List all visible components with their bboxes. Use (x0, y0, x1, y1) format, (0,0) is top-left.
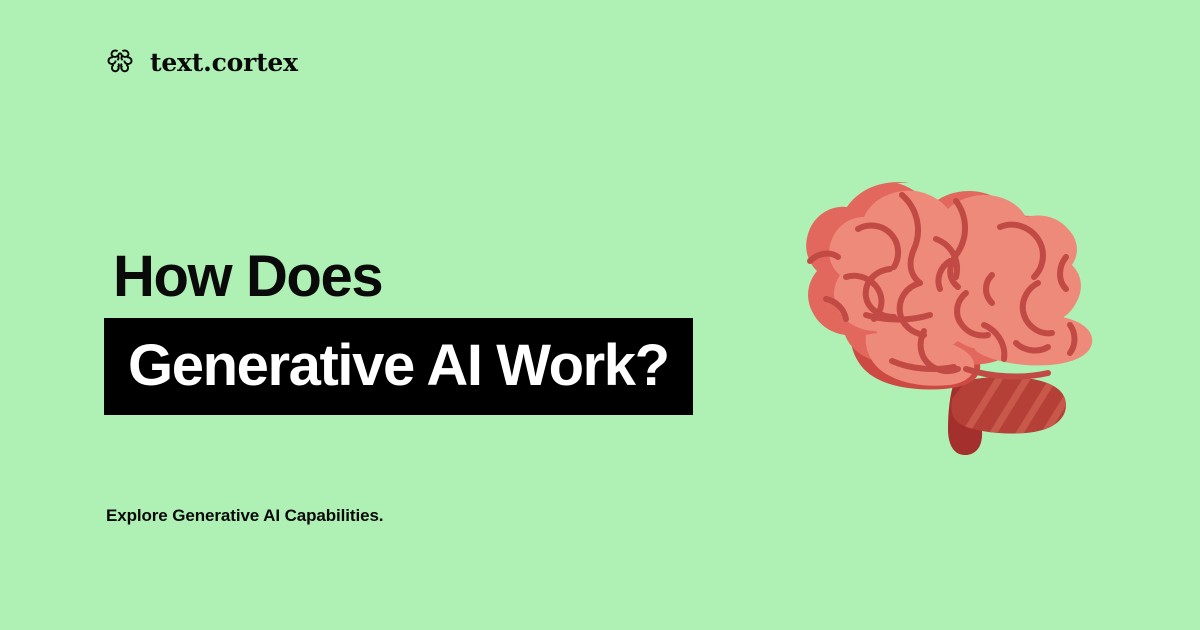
brain-cluster-logo-icon (104, 46, 136, 78)
headline-line-2: Generative AI Work? (128, 333, 669, 398)
headline-block: How Does Generative AI Work? (0, 248, 720, 415)
headline-highlight-box: Generative AI Work? (104, 318, 693, 415)
subtitle-text: Explore Generative AI Capabilities. (106, 506, 383, 526)
headline-line-1: How Does (113, 248, 720, 318)
brand-logo[interactable]: text.cortex (104, 46, 298, 78)
brand-name: text.cortex (150, 50, 298, 75)
banner-canvas: text.cortex How Does Generative AI Work?… (0, 0, 1200, 630)
